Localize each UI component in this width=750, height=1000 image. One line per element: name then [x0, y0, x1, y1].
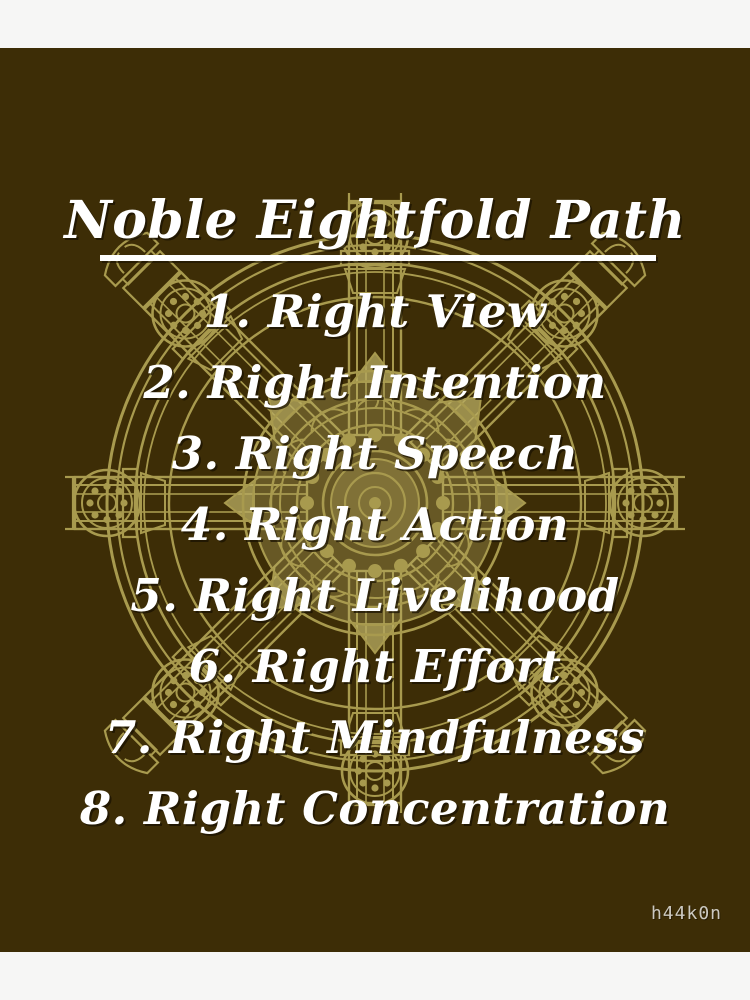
list-item: 3. Right Speech [0, 418, 750, 489]
page-title: Noble Eightfold Path [0, 190, 750, 252]
artist-watermark: h44k0n [651, 903, 722, 924]
artwork-board: Noble Eightfold Path 1. Right View 2. Ri… [0, 48, 750, 952]
list-item: 5. Right Livelihood [0, 560, 750, 631]
list-item: 7. Right Mindfulness [0, 702, 750, 773]
list-item: 2. Right Intention [0, 347, 750, 418]
eightfold-path-list: 1. Right View 2. Right Intention 3. Righ… [0, 276, 750, 844]
list-item: 6. Right Effort [0, 631, 750, 702]
poster-text-layer: Noble Eightfold Path 1. Right View 2. Ri… [0, 48, 750, 952]
list-item: 1. Right View [0, 276, 750, 347]
list-item: 8. Right Concentration [0, 773, 750, 844]
list-item: 4. Right Action [0, 489, 750, 560]
title-underline-rule [100, 255, 656, 261]
poster: Noble Eightfold Path 1. Right View 2. Ri… [0, 0, 750, 1000]
